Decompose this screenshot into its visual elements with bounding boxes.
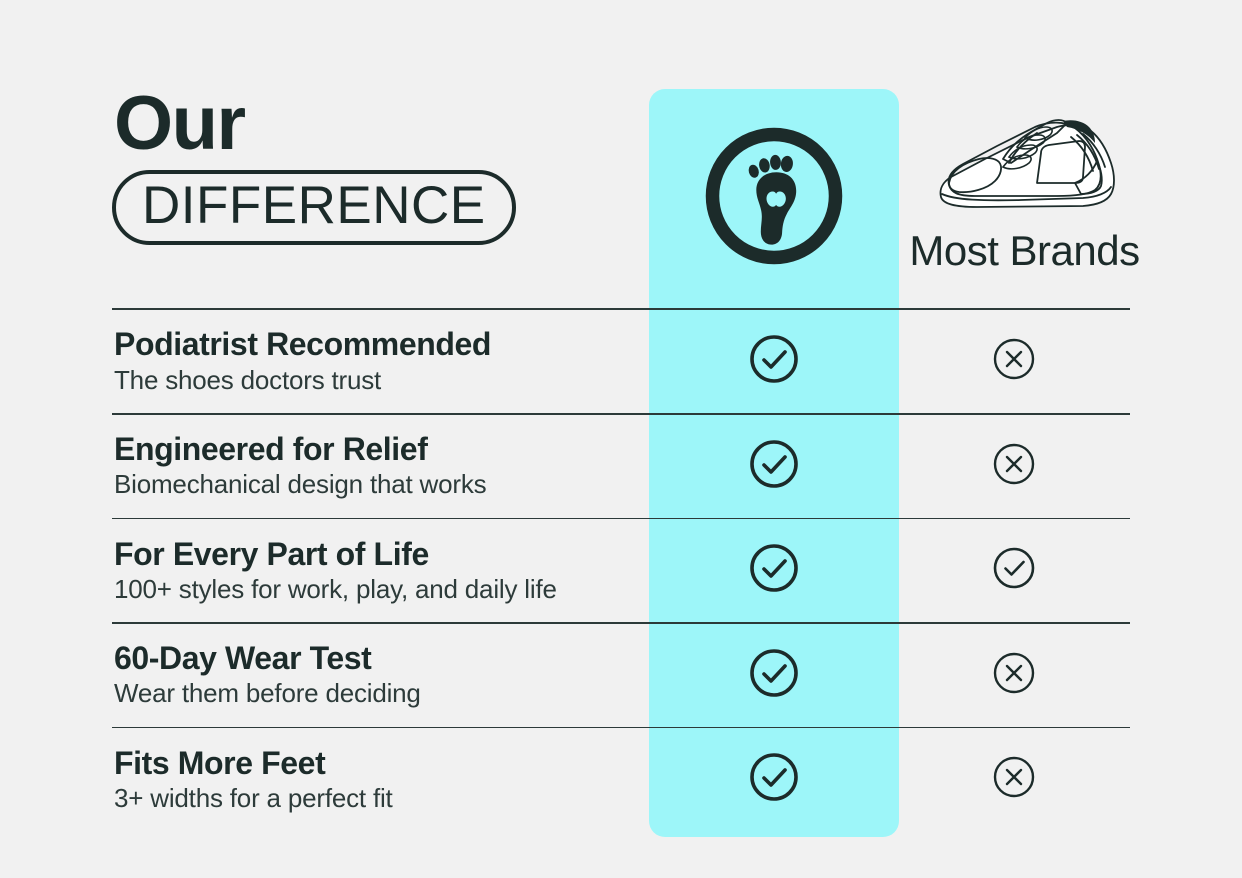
theirs-cell (899, 336, 1128, 387)
feature-subtitle: 3+ widths for a perfect fit (114, 784, 649, 814)
feature-title: 60-Day Wear Test (114, 641, 649, 676)
competitor-header-cell: Most Brands (899, 89, 1150, 308)
cross-circle-icon (991, 754, 1037, 805)
feature-title: Fits More Feet (114, 746, 649, 781)
page-title-line-1: Our (114, 88, 532, 160)
ours-cell (649, 751, 899, 808)
theirs-cell (899, 650, 1128, 701)
feature-subtitle: Biomechanical design that works (114, 470, 649, 500)
table-row: Podiatrist Recommended The shoes doctors… (112, 310, 1130, 413)
check-circle-icon (748, 438, 800, 495)
cross-circle-icon (991, 336, 1037, 387)
feature-cell: Fits More Feet 3+ widths for a perfect f… (112, 746, 649, 814)
feature-subtitle: The shoes doctors trust (114, 366, 649, 396)
table-row: Fits More Feet 3+ widths for a perfect f… (112, 728, 1130, 831)
ours-cell (649, 542, 899, 599)
table-row: Engineered for Relief Biomechanical desi… (112, 415, 1130, 518)
comparison-page: Our DIFFERENCE (0, 0, 1242, 878)
feature-cell: Engineered for Relief Biomechanical desi… (112, 432, 649, 500)
table-row: For Every Part of Life 100+ styles for w… (112, 519, 1130, 622)
cross-circle-icon (991, 441, 1037, 492)
check-circle-icon (991, 545, 1037, 596)
sneaker-illustration-icon (925, 97, 1125, 225)
ours-cell (649, 647, 899, 704)
feature-title: Engineered for Relief (114, 432, 649, 467)
feature-cell: For Every Part of Life 100+ styles for w… (112, 537, 649, 605)
page-title: Our DIFFERENCE (112, 88, 532, 245)
feature-subtitle: 100+ styles for work, play, and daily li… (114, 575, 649, 605)
footprint-heart-circle-icon (699, 121, 849, 276)
feature-cell: Podiatrist Recommended The shoes doctors… (112, 327, 649, 395)
page-title-line-2: DIFFERENCE (142, 179, 486, 232)
brand-logo-cell (649, 89, 899, 308)
feature-title: Podiatrist Recommended (114, 327, 649, 362)
table-row: 60-Day Wear Test Wear them before decidi… (112, 624, 1130, 727)
theirs-cell (899, 754, 1128, 805)
check-circle-icon (748, 647, 800, 704)
check-circle-icon (748, 333, 800, 390)
comparison-header: Our DIFFERENCE (0, 0, 1242, 308)
check-circle-icon (748, 751, 800, 808)
theirs-cell (899, 441, 1128, 492)
feature-cell: 60-Day Wear Test Wear them before decidi… (112, 641, 649, 709)
competitor-label: Most Brands (909, 227, 1139, 275)
comparison-table: Podiatrist Recommended The shoes doctors… (112, 308, 1130, 831)
ours-cell (649, 438, 899, 495)
ours-cell (649, 333, 899, 390)
cross-circle-icon (991, 650, 1037, 701)
page-title-pill: DIFFERENCE (112, 170, 516, 245)
theirs-cell (899, 545, 1128, 596)
check-circle-icon (748, 542, 800, 599)
feature-title: For Every Part of Life (114, 537, 649, 572)
feature-subtitle: Wear them before deciding (114, 679, 649, 709)
